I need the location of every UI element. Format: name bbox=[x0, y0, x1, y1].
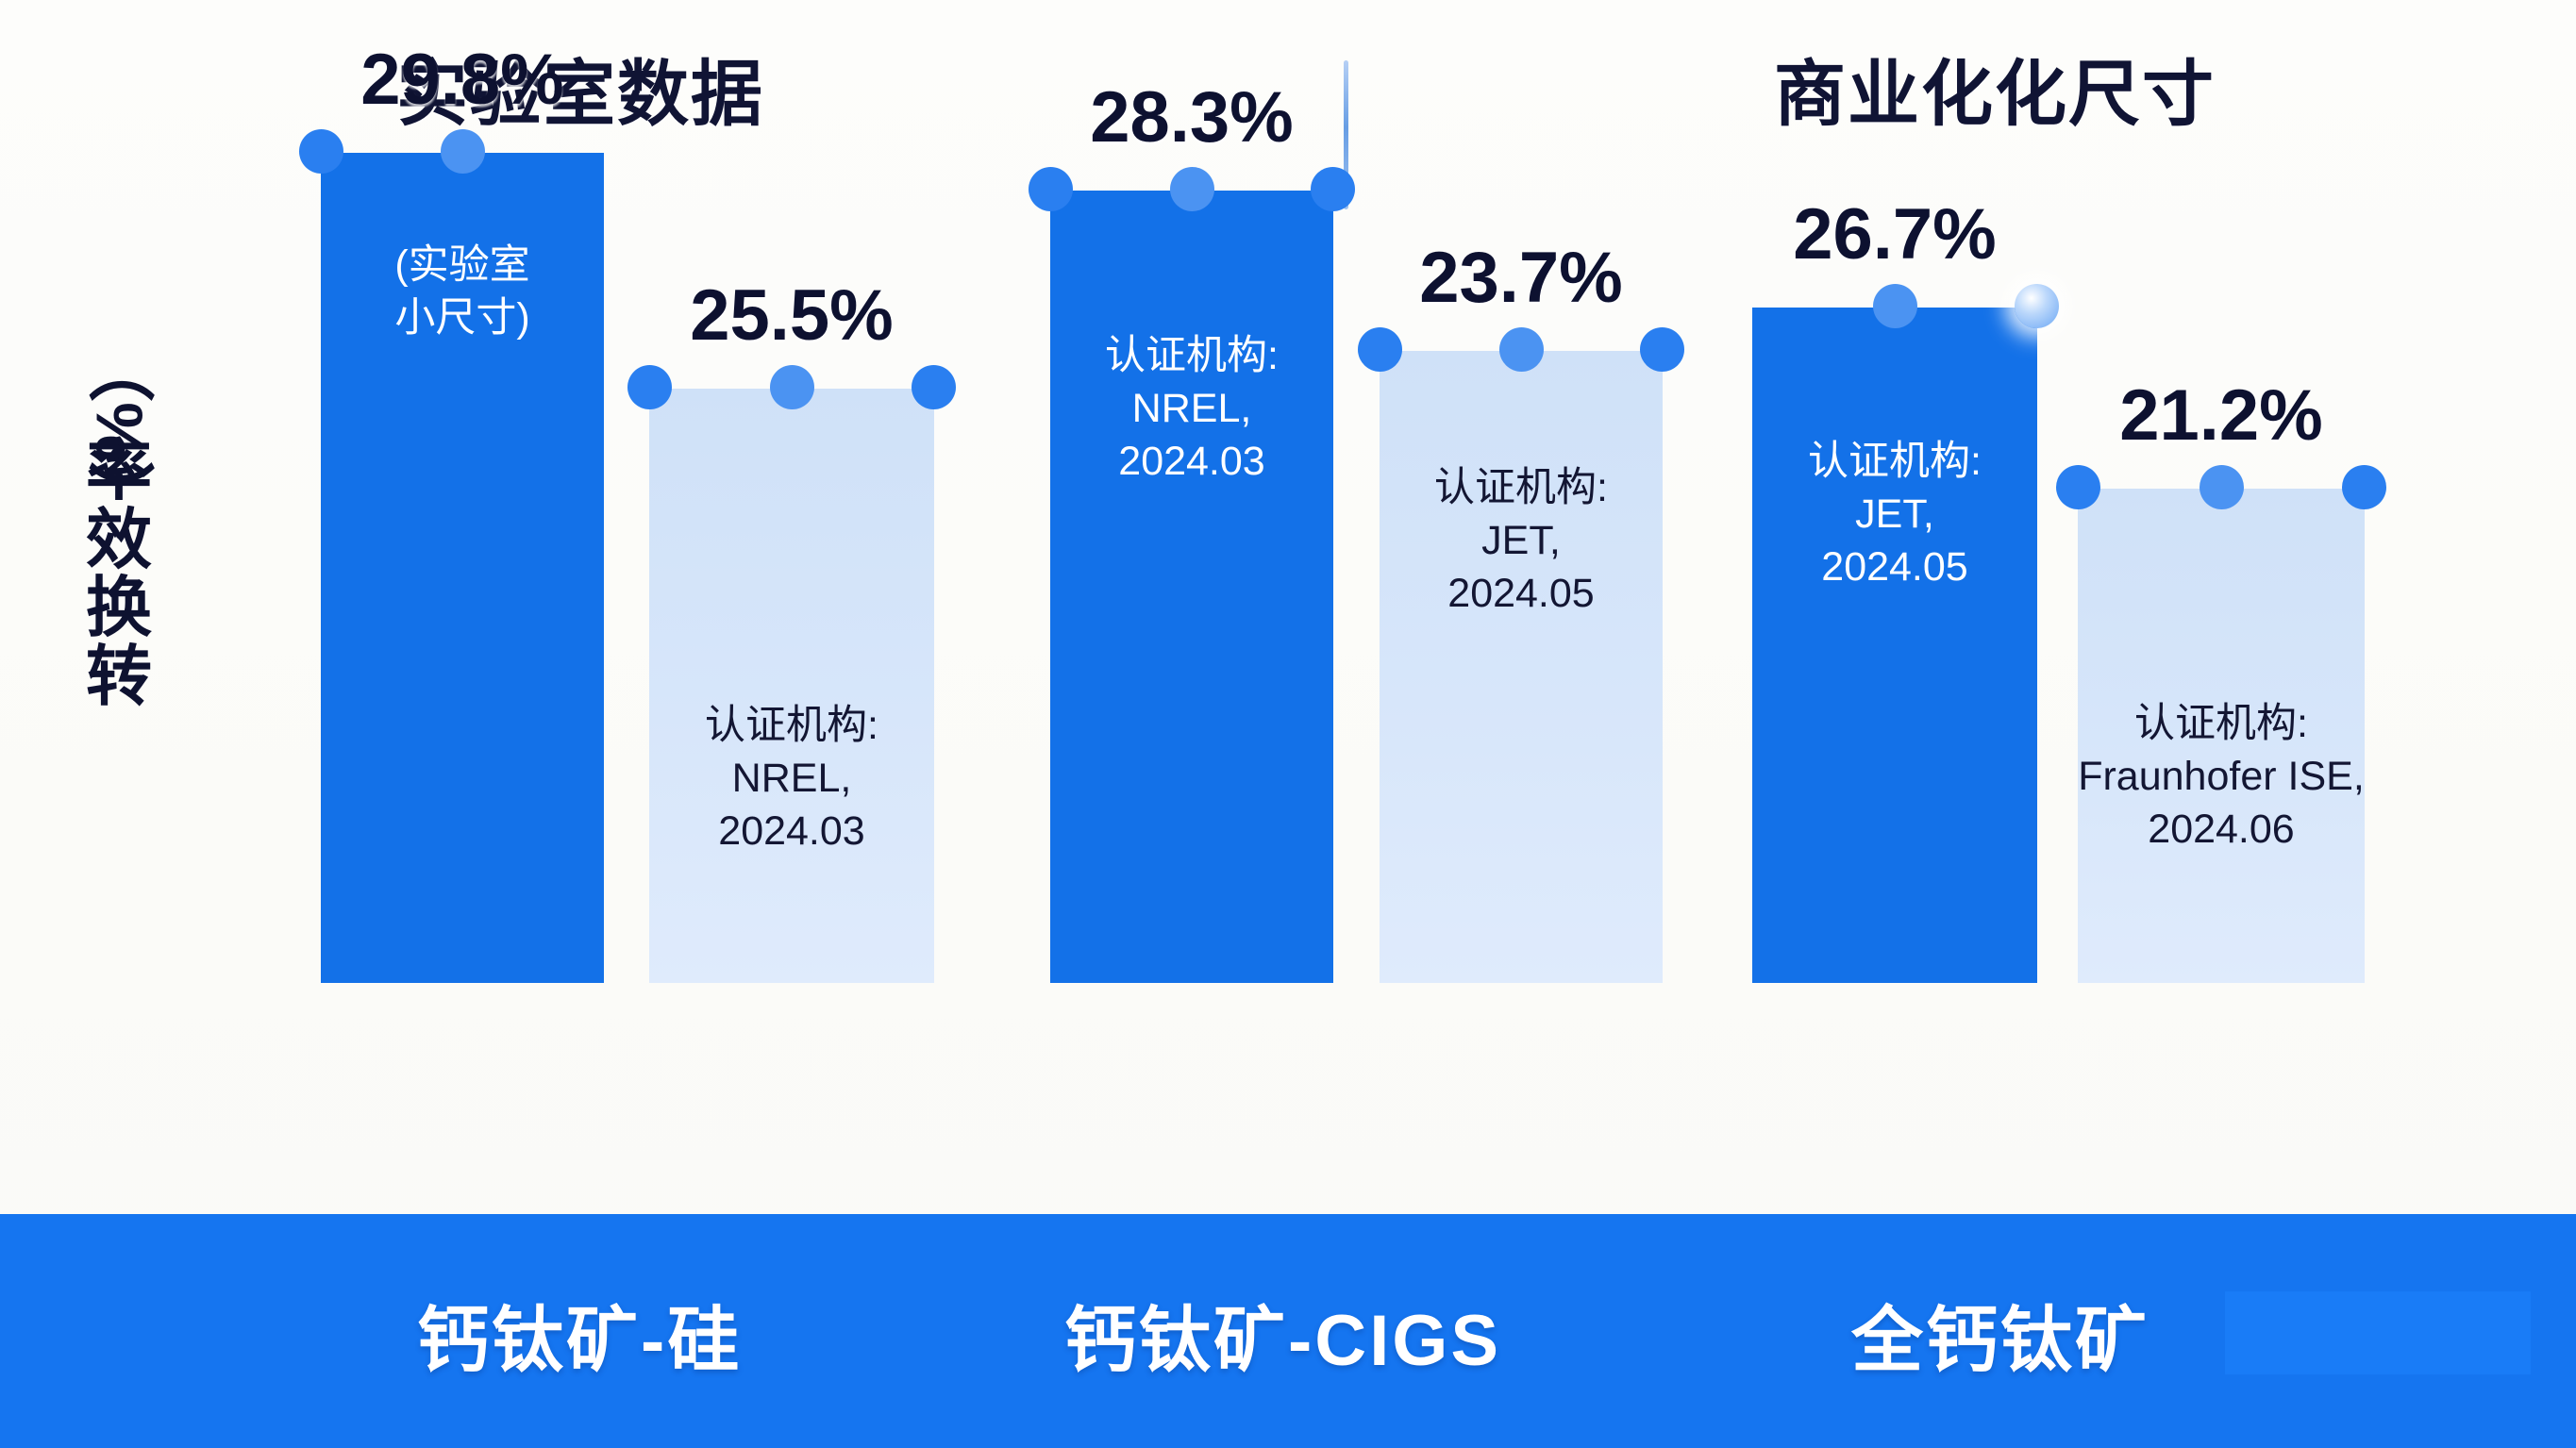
bar-annotation-line-1: JET, bbox=[1434, 515, 1608, 568]
bar-annotation: 认证机构: JET, 2024.05 bbox=[1808, 436, 1982, 594]
category-label-perovskite-silicon: 钙钛矿-硅 bbox=[417, 1282, 742, 1386]
bar-value-label: 28.3% bbox=[1090, 76, 1294, 158]
bar-handle-dot-left[interactable] bbox=[299, 129, 343, 174]
category-label-all-perovskite: 全钙钛矿 bbox=[1851, 1282, 2149, 1386]
bar-perovskite-silicon-lab[interactable]: 29.8% (实验室 小尺寸) bbox=[321, 153, 604, 983]
bar-handle-dot-center[interactable] bbox=[441, 129, 485, 174]
bar-annotation: 认证机构: JET, 2024.05 bbox=[1434, 462, 1608, 621]
bar-handle-dot-right[interactable] bbox=[2342, 465, 2386, 509]
bar-annotation-line-0: 认证机构: bbox=[1434, 462, 1608, 515]
band-highlight-block bbox=[2225, 1291, 2531, 1374]
bar-handle-dot-center[interactable] bbox=[1873, 284, 1917, 328]
bar-handle-dot-right[interactable] bbox=[1311, 167, 1355, 211]
bar-annotation-line-0: 认证机构: bbox=[705, 700, 878, 753]
plot-area: 29.8% (实验室 小尺寸) 25.5% 认证机构: NREL, 2024.0… bbox=[0, 0, 2576, 1217]
bar-handle-dot-right[interactable] bbox=[1640, 327, 1684, 372]
bar-handle-dot-left[interactable] bbox=[2056, 465, 2100, 509]
bar-handle-dot-right[interactable] bbox=[912, 365, 956, 409]
chart-canvas: 实验室数据 商业化化尺寸 （%） 率 效 换 转 29.8% (实验室 小尺寸)… bbox=[0, 0, 2576, 1448]
bar-annotation-line-0: (实验室 bbox=[394, 240, 529, 292]
bar-handle-dot-left[interactable] bbox=[1029, 167, 1073, 211]
bar-annotation-line-1: 小尺寸) bbox=[394, 292, 529, 345]
bar-value-label: 26.7% bbox=[1793, 193, 1997, 275]
bar-annotation-line-2: 2024.03 bbox=[705, 806, 878, 858]
bar-annotation-line-1: JET, bbox=[1808, 489, 1982, 541]
bar-handle-dot-left[interactable] bbox=[1358, 327, 1402, 372]
bar-annotation-line-2: 2024.03 bbox=[1105, 436, 1279, 489]
bar-value-label: 25.5% bbox=[690, 275, 894, 357]
bar-annotation-line-2: 2024.05 bbox=[1434, 568, 1608, 621]
bar-perovskite-cigs-commercial[interactable]: 23.7% 认证机构: JET, 2024.05 bbox=[1380, 351, 1663, 983]
category-label-perovskite-cigs: 钙钛矿-CIGS bbox=[1064, 1282, 1501, 1386]
bar-annotation-line-1: Fraunhofer ISE, bbox=[2078, 751, 2365, 804]
bar-annotation-line-2: 2024.06 bbox=[2078, 804, 2365, 857]
bar-annotation-line-0: 认证机构: bbox=[2078, 698, 2365, 751]
bar-annotation-line-2: 2024.05 bbox=[1808, 541, 1982, 594]
bar-all-perovskite-commercial[interactable]: 21.2% 认证机构: Fraunhofer ISE, 2024.06 bbox=[2078, 489, 2365, 983]
bar-handle-dot-center[interactable] bbox=[1499, 327, 1544, 372]
bar-value-label: 23.7% bbox=[1419, 237, 1623, 319]
bar-annotation-line-1: NREL, bbox=[1105, 383, 1279, 436]
bar-annotation-line-1: NREL, bbox=[705, 753, 878, 806]
bar-annotation: 认证机构: NREL, 2024.03 bbox=[705, 700, 878, 858]
bar-annotation: (实验室 小尺寸) bbox=[394, 240, 529, 345]
bar-value-label: 29.8% bbox=[360, 39, 564, 121]
bar-perovskite-cigs-lab[interactable]: 28.3% 认证机构: NREL, 2024.03 bbox=[1050, 191, 1333, 983]
bar-handle-dot-center[interactable] bbox=[1170, 167, 1214, 211]
bar-annotation-line-0: 认证机构: bbox=[1808, 436, 1982, 489]
bar-all-perovskite-lab[interactable]: 26.7% 认证机构: JET, 2024.05 bbox=[1752, 308, 2037, 983]
bar-annotation-line-0: 认证机构: bbox=[1105, 330, 1279, 383]
bar-annotation: 认证机构: Fraunhofer ISE, 2024.06 bbox=[2078, 698, 2365, 857]
bar-annotation: 认证机构: NREL, 2024.03 bbox=[1105, 330, 1279, 489]
category-axis-band: 钙钛矿-硅 钙钛矿-CIGS 全钙钛矿 bbox=[0, 1214, 2576, 1448]
bar-handle-dot-left[interactable] bbox=[627, 365, 672, 409]
bar-handle-dot-center[interactable] bbox=[2200, 465, 2244, 509]
bar-handle-dot-center[interactable] bbox=[770, 365, 814, 409]
bar-value-label: 21.2% bbox=[2119, 374, 2323, 457]
bar-perovskite-silicon-commercial[interactable]: 25.5% 认证机构: NREL, 2024.03 bbox=[649, 389, 934, 983]
bar-handle-dot-right[interactable] bbox=[2015, 284, 2059, 328]
